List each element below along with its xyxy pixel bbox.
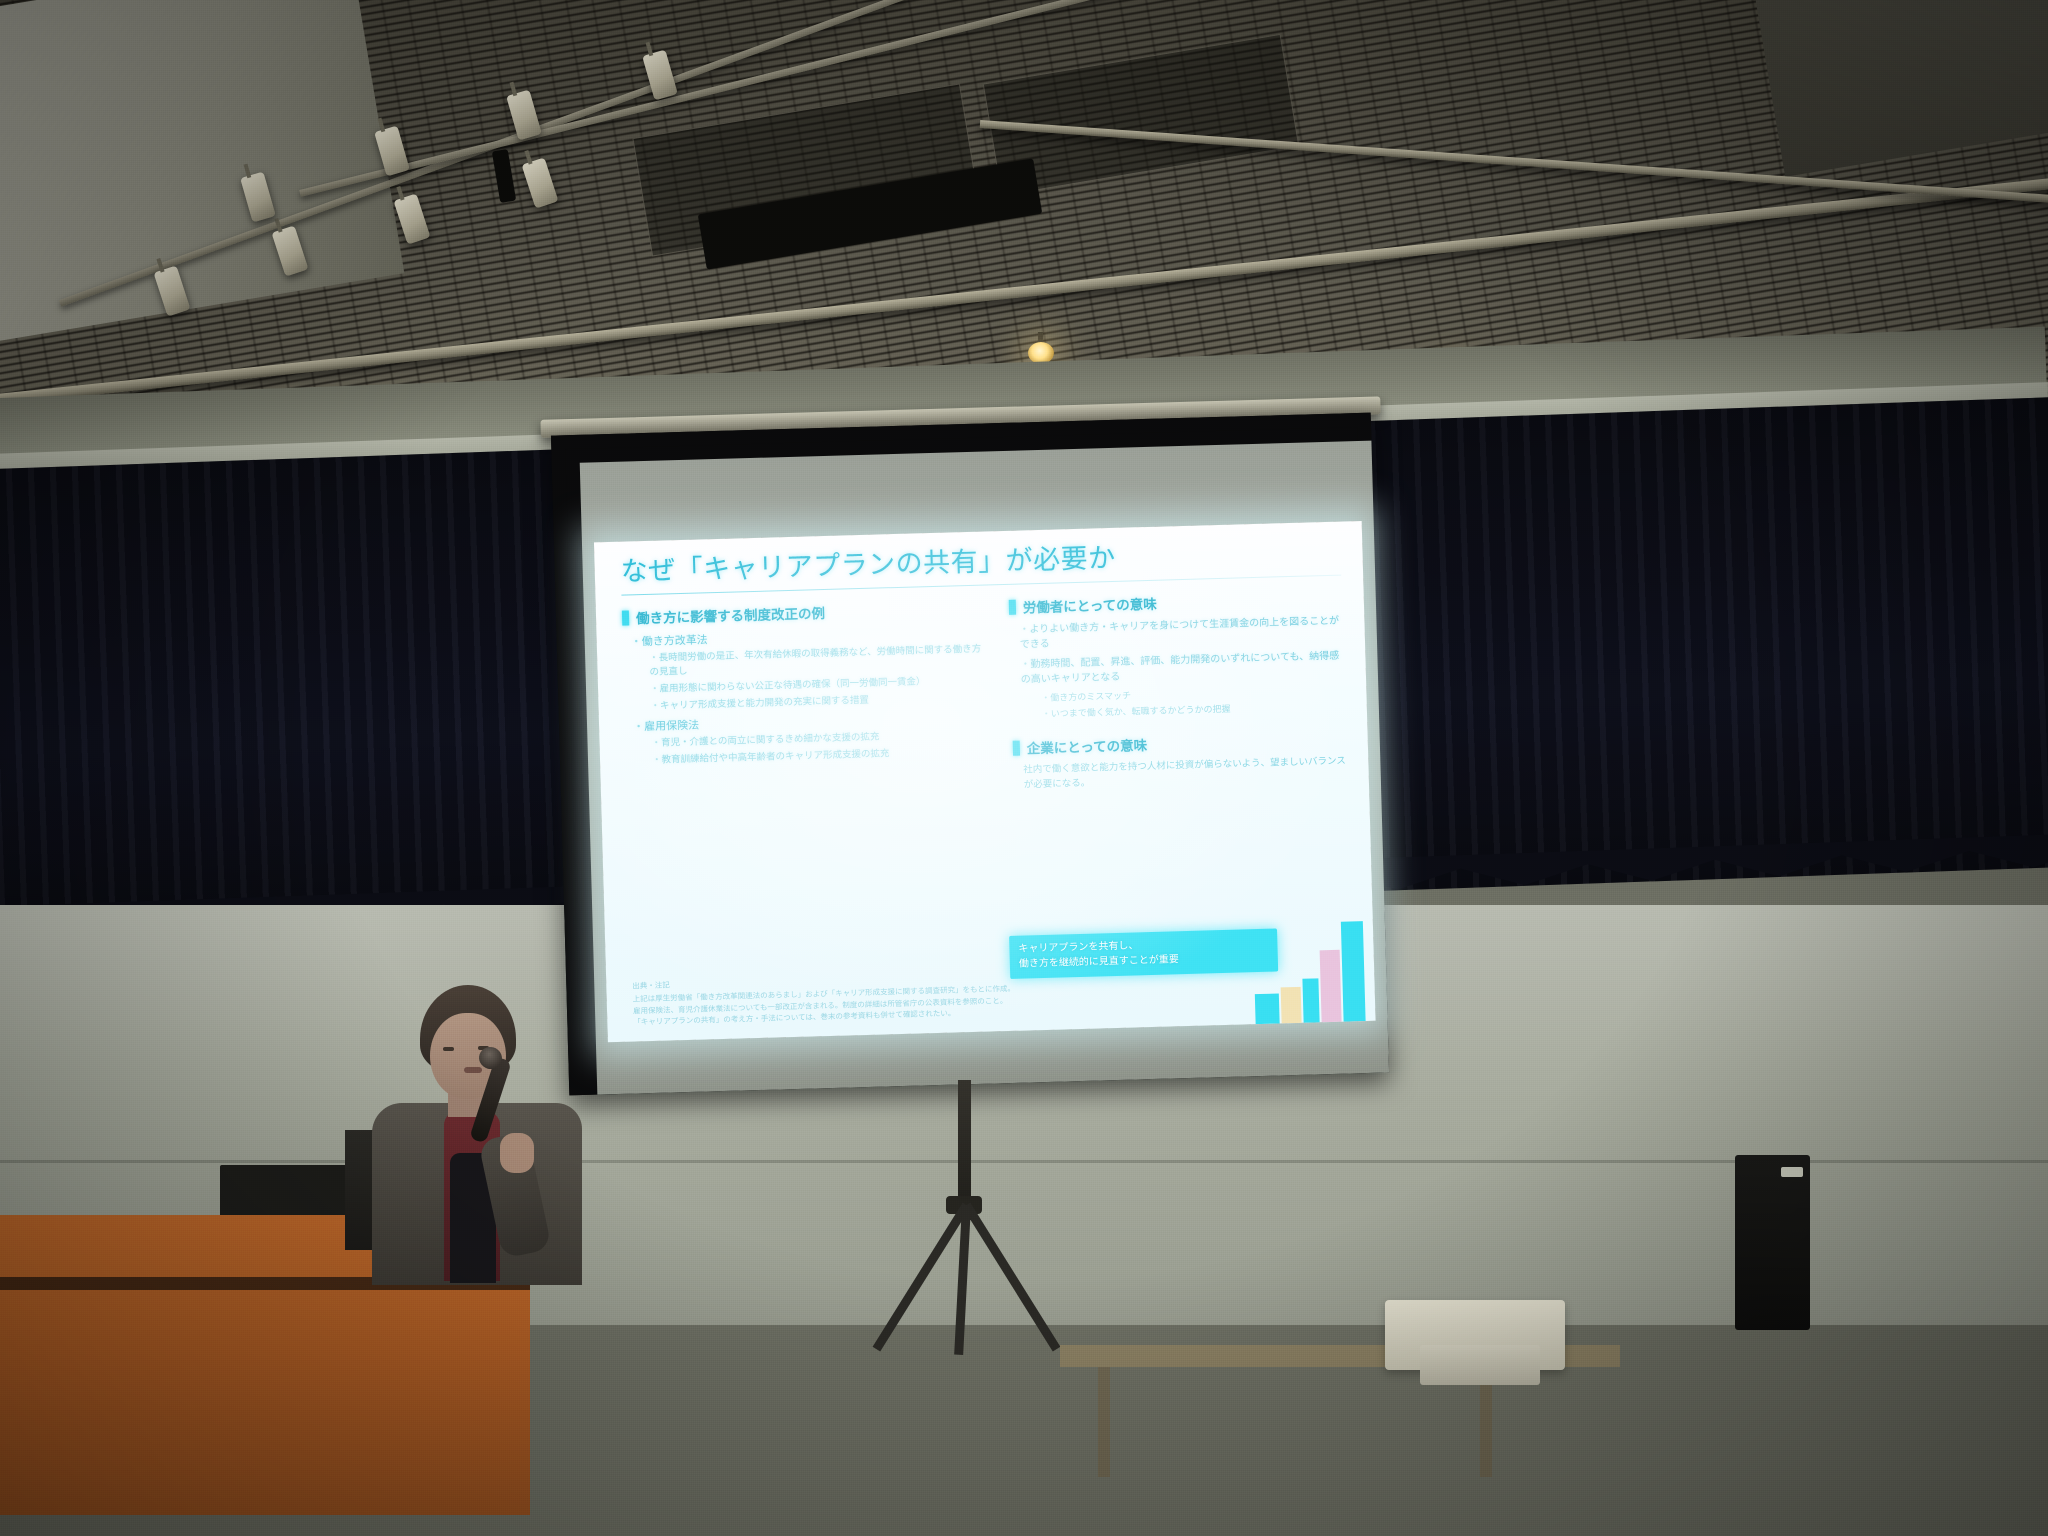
right-section-heading-2: 企業にとっての意味 bbox=[1012, 729, 1346, 758]
right-section-body: 社内で働く意欲と能力を持つ人材に投資が偏らないよう、望ましいバランスが必要になる… bbox=[1023, 755, 1347, 793]
section-bar-icon bbox=[1009, 600, 1016, 615]
right-section-heading-1-text: 労働者にとっての意味 bbox=[1023, 593, 1157, 617]
audience bbox=[0, 916, 2048, 1536]
right-bullet: 勤務時間、配置、昇進、評価、能力開発のいずれについても、納得感の高いキャリアとな… bbox=[1020, 649, 1344, 688]
right-section-heading-1: 労働者にとっての意味 bbox=[1009, 588, 1343, 617]
slide-left-column: 働き方に影響する制度改正の例 働き方改革法 長時間労働の是正、年次有給休暇の取得… bbox=[622, 598, 988, 804]
slide-columns: 働き方に影響する制度改正の例 働き方改革法 長時間労働の是正、年次有給休暇の取得… bbox=[622, 588, 1347, 804]
slide-right-column: 労働者にとっての意味 よりよい働き方・キャリアを身につけて生涯賃金の向上を図るこ… bbox=[1009, 588, 1347, 793]
section-bar-icon bbox=[1013, 741, 1020, 756]
right-bullet: よりよい働き方・キャリアを身につけて生涯賃金の向上を図ることができる bbox=[1019, 614, 1343, 653]
left-column-heading-text: 働き方に影響する制度改正の例 bbox=[636, 602, 825, 627]
left-column-heading: 働き方に影響する制度改正の例 bbox=[622, 598, 983, 628]
photo-scene: なぜ「キャリアプランの共有」が必要か 働き方に影響する制度改正の例 働き方改革法 bbox=[0, 0, 2048, 1536]
section-bar-icon bbox=[622, 610, 629, 625]
right-section-heading-2-text: 企業にとっての意味 bbox=[1026, 735, 1147, 758]
